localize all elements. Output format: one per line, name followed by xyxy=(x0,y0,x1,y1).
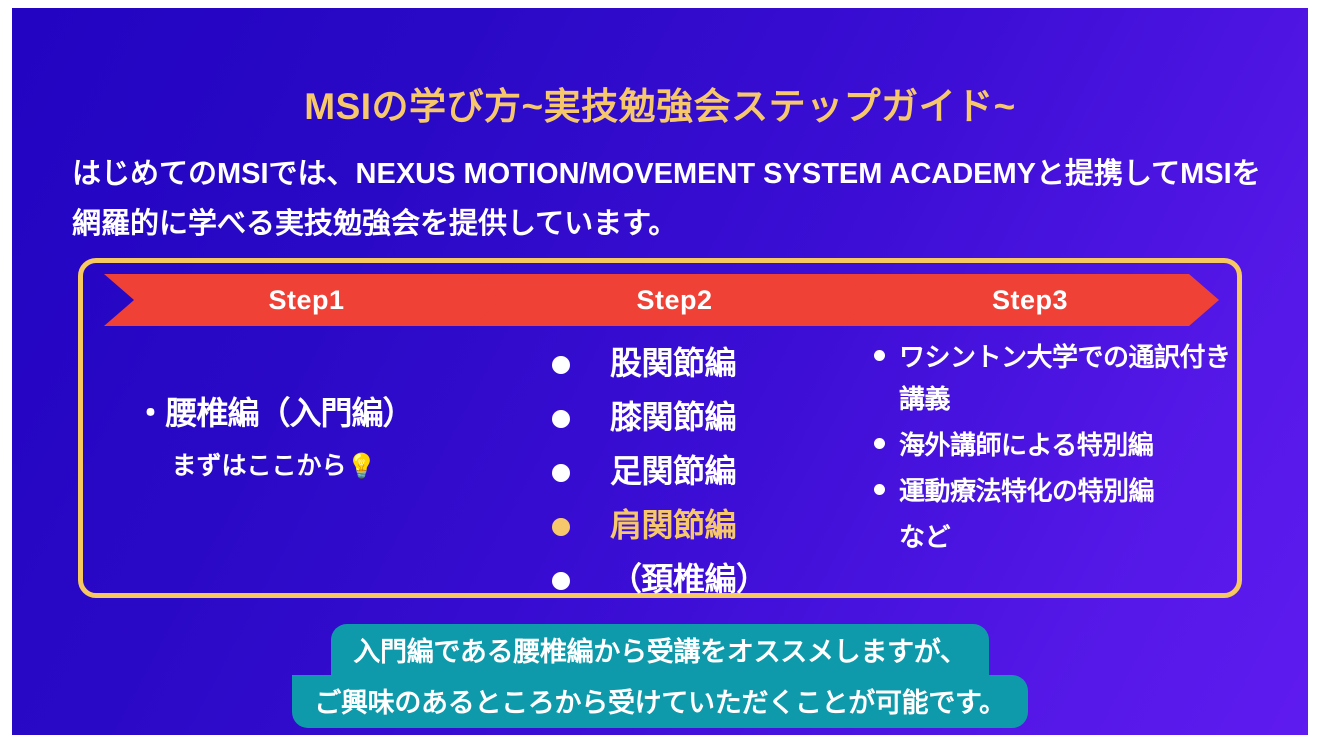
step-arrow-2: Step2 xyxy=(472,274,877,326)
step3-item-label: 海外講師による特別編 xyxy=(899,424,1153,466)
bullet-dot-icon xyxy=(552,518,570,536)
step-arrow-strip: Step1 Step2 Step3 xyxy=(104,274,1219,326)
bullet-dot-icon xyxy=(874,350,885,361)
list-item-highlighted: 肩関節編 xyxy=(452,500,802,554)
step1-main-item: ・腰椎編（入門編） xyxy=(104,388,444,434)
list-item: ワシントン大学での通訳付き講義 xyxy=(874,336,1244,420)
step3-item-label: など xyxy=(899,516,950,558)
list-item: 海外講師による特別編 xyxy=(874,424,1244,466)
step3-column: ワシントン大学での通訳付き講義 海外講師による特別編 運動療法特化の特別編 など xyxy=(874,336,1244,563)
callout-line-2: ご興味のあるところから受けていただくことが可能です。 xyxy=(292,675,1028,728)
bullet-dot-icon xyxy=(874,484,885,495)
bullet-dot-icon xyxy=(552,410,570,428)
bullet-dot-icon xyxy=(552,572,570,590)
step3-item-label: 運動療法特化の特別編 xyxy=(899,470,1154,512)
lead-paragraph: はじめてのMSIでは、NEXUS MOTION/MOVEMENT SYSTEM … xyxy=(72,150,1272,250)
list-item: 足関節編 xyxy=(452,446,802,500)
step3-item-label: ワシントン大学での通訳付き講義 xyxy=(899,336,1244,420)
step1-column: ・腰椎編（入門編） まずはここから💡 xyxy=(104,388,444,482)
list-item: （頚椎編） xyxy=(452,554,802,608)
list-item: 運動療法特化の特別編 xyxy=(874,470,1244,512)
lightbulb-icon: 💡 xyxy=(347,453,377,480)
step2-item-label: 肩関節編 xyxy=(610,500,736,546)
callout-line-1: 入門編である腰椎編から受講をオススメしますが、 xyxy=(331,624,988,677)
list-item: 股関節編 xyxy=(452,338,802,392)
bullet-dot-icon xyxy=(874,438,885,449)
step2-item-label: （頚椎編） xyxy=(610,554,768,600)
step1-sub-note: まずはここから💡 xyxy=(104,446,444,482)
step2-item-label: 膝関節編 xyxy=(610,392,736,438)
step-arrow-1: Step1 xyxy=(104,274,509,326)
step2-column: 股関節編 膝関節編 足関節編 肩関節編 （頚椎編） xyxy=(452,338,802,608)
slide-canvas: MSIの学び方~実技勉強会ステップガイド~ はじめてのMSIでは、NEXUS M… xyxy=(12,8,1308,735)
list-item: 膝関節編 xyxy=(452,392,802,446)
step1-sub-text: まずはここから xyxy=(172,452,347,480)
step2-item-label: 股関節編 xyxy=(610,338,736,384)
page-title: MSIの学び方~実技勉強会ステップガイド~ xyxy=(12,76,1308,130)
bullet-dot-icon xyxy=(552,464,570,482)
step-arrow-3: Step3 xyxy=(841,274,1219,326)
step2-item-label: 足関節編 xyxy=(610,446,736,492)
bottom-callout: 入門編である腰椎編から受講をオススメしますが、 ご興味のあるところから受けていた… xyxy=(12,624,1308,728)
bullet-dot-icon xyxy=(552,356,570,374)
list-item: など xyxy=(874,516,1244,558)
